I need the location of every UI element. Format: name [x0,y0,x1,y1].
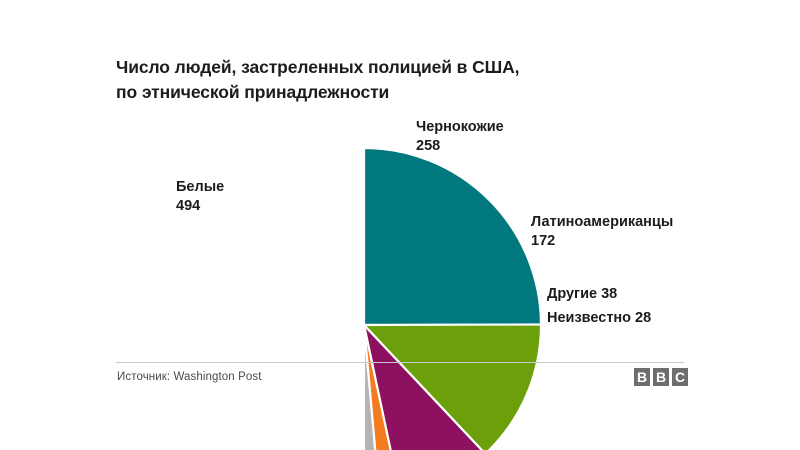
pie-slice [364,148,541,325]
slice-label-other: Другие 38 [547,285,617,304]
chart-canvas: Число людей, застреленных полицией в США… [0,0,800,450]
slice-label-black: Чернокожие 258 [416,118,504,156]
slice-label-latino: Латиноамериканцы 172 [531,213,673,251]
pie-slice-group [364,148,541,450]
footer-divider [116,362,684,363]
bbc-logo-letter-1: B [634,368,650,386]
slice-label-white: Белые 494 [176,178,224,216]
bbc-logo-letter-2: B [653,368,669,386]
bbc-logo: B B C [634,368,688,386]
source-note: Источник: Washington Post [117,371,262,383]
slice-label-unknown: Неизвестно 28 [547,309,651,328]
bbc-logo-letter-3: C [672,368,688,386]
